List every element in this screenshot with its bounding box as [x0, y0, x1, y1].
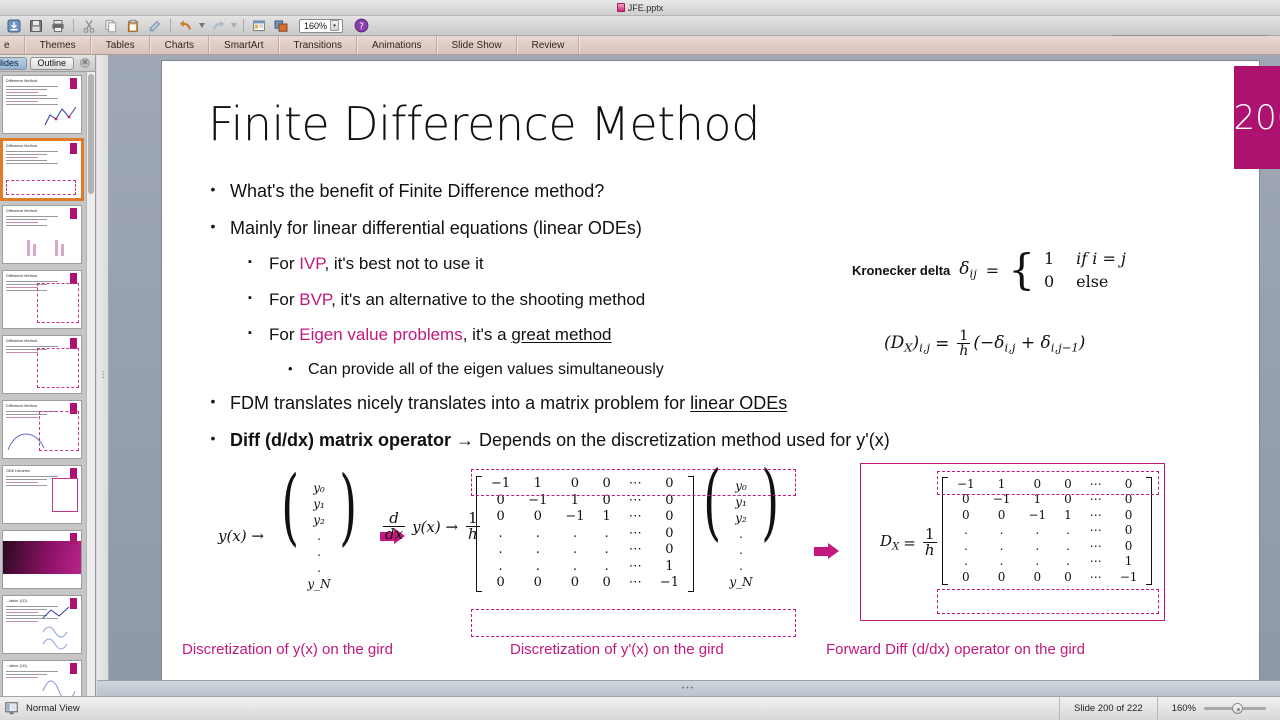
thumbnail-text-lines [6, 151, 58, 166]
thumbnail-artwork [44, 103, 78, 129]
cut-icon[interactable] [79, 17, 99, 34]
vector-entry: y₁ [313, 497, 325, 511]
matrix-row: 0−110⋯0 [482, 493, 688, 510]
bullet-text: FDM translates nicely translates into a … [230, 393, 787, 414]
underline-great-method: great method [511, 325, 611, 344]
highlight-last-row-block2 [471, 609, 796, 637]
bracket-right [1146, 477, 1152, 585]
caption-block3: Forward Diff (d/dx) operator on the gird [826, 641, 1085, 658]
ribbon-tab-animations[interactable]: Animations [357, 36, 436, 54]
matrix-row: ....⋯1 [482, 559, 688, 576]
block2-fn: y(x) → [412, 518, 458, 536]
splitter-grip-icon: ••• [100, 371, 106, 379]
slide-thumbnail[interactable]: ODE Libraries [2, 465, 82, 524]
thumbnail-title: Difference Method [6, 274, 37, 278]
block3-equals: = [903, 534, 916, 552]
pane-splitter[interactable]: ••• [97, 55, 109, 696]
slide-thumbnail[interactable]: Difference Method [2, 400, 82, 459]
slides-pane-scrollbar[interactable] [86, 72, 95, 696]
thumbnail-title: Difference Method [6, 144, 37, 148]
thumbnail-artwork [25, 236, 81, 260]
matrix-row: ....⋯1 [948, 554, 1146, 569]
paste-icon[interactable] [123, 17, 143, 34]
block2-vector: ( y₀ y₁ y₂ . . . y_N ) [696, 476, 786, 592]
quick-access-toolbar[interactable]: 160% ▾ ? 🔍 Search in Presentation [0, 16, 1280, 36]
matrix-diagram: y(x) → ( y₀ y₁ y₂ . . . y_N ) [180, 461, 1240, 671]
caption-block1: Discretization of y(x) on the gird [182, 641, 393, 658]
right-paren: ) [761, 476, 779, 592]
bullet-item: ▪ For Eigen value problems, it's a great… [248, 325, 968, 345]
bullet-item: ▪ For BVP, it's an alternative to the sh… [248, 290, 968, 310]
thumbnail-title: ODE Libraries [6, 469, 30, 473]
thumbnail-badge [70, 78, 77, 89]
vector-entries: y₀ y₁ y₂ . . . y_N [728, 476, 753, 592]
toolbar-separator-1 [70, 17, 77, 34]
vector-entries: y₀ y₁ y₂ . . . y_N [306, 481, 331, 591]
zoom-slider[interactable] [1204, 707, 1266, 710]
dx-frac-numerator: 1 [957, 329, 970, 343]
matrix-row: ....⋯0 [948, 539, 1146, 554]
equals-sign: = [986, 261, 999, 280]
ribbon-tab-bar[interactable]: e Themes Tables Charts SmartArt Transiti… [0, 36, 1280, 55]
case-false-condition: else [1076, 272, 1108, 291]
format-painter-icon[interactable] [145, 17, 165, 34]
slide-thumbnail[interactable]: Difference Method [2, 205, 82, 264]
slide-thumbnail[interactable]: ...lation (1D) [2, 595, 82, 654]
print-icon[interactable] [48, 17, 68, 34]
ribbon-tab-home[interactable]: e [0, 36, 25, 54]
view-label: Normal View [22, 703, 80, 714]
thumbnail-dark-band [3, 541, 81, 574]
thumbnail-artwork [37, 283, 79, 323]
matrix-row: ....⋯0 [482, 526, 688, 543]
case-row-false: 0 else [1044, 272, 1126, 291]
zoom-value: 160% [304, 21, 327, 31]
ribbon-tab-slide-show[interactable]: Slide Show [437, 36, 517, 54]
slide-canvas: ••• Finite Difference Method 200 • What'… [97, 55, 1280, 696]
ribbon-tab-charts[interactable]: Charts [150, 36, 209, 54]
vector-entry: y₀ [313, 481, 325, 495]
case-true-condition: if i = j [1076, 249, 1126, 268]
ribbon-tab-tables[interactable]: Tables [91, 36, 150, 54]
bullet-text: What's the benefit of Finite Difference … [230, 181, 604, 202]
matrix-brackets: −1100⋯0 0−110⋯0 00−11⋯0 ....⋯0 ....⋯0 ..… [476, 476, 694, 592]
thumbnail-badge [70, 208, 77, 219]
dx-equals: = [935, 334, 949, 354]
left-paren: ( [703, 476, 721, 592]
media-browser-icon[interactable] [271, 17, 291, 34]
undo-dropdown-arrow-icon[interactable] [198, 17, 206, 34]
case-true-value: 1 [1044, 249, 1054, 268]
ribbon-tab-smartart[interactable]: SmartArt [209, 36, 278, 54]
matrix-brackets: −1100⋯0 0−110⋯0 00−11⋯0 ....⋯0 ....⋯0 ..… [942, 477, 1152, 585]
h-num: 1 [923, 527, 937, 542]
vector-entry: y_N [729, 575, 752, 589]
slide-thumbnail[interactable]: ...lation (1D) [2, 660, 82, 696]
matrix-row: −1100⋯0 [948, 477, 1146, 492]
normal-view-icon[interactable] [0, 702, 22, 715]
matrix-row: 0−110⋯0 [948, 492, 1146, 507]
dx-lhs: (DX)i,j [884, 333, 930, 355]
matrix-row: ....⋯0 [948, 523, 1146, 538]
redo-dropdown-arrow-icon[interactable] [230, 17, 238, 34]
block3-lhs: DX = 1 h [880, 527, 940, 558]
slide-thumbnail-list[interactable]: Difference Method Difference Method Diff… [0, 72, 95, 696]
block3-matrix: −1100⋯0 0−110⋯0 00−11⋯0 ....⋯0 ....⋯0 ..… [948, 477, 1146, 585]
dx-fraction: 1 h [957, 329, 970, 358]
strip-grip-icon: ••• [682, 685, 695, 692]
h-den: h [923, 542, 937, 558]
bullet-marker: • [208, 218, 218, 239]
status-right-group: Slide 200 of 222 160% [1059, 697, 1280, 720]
thumbnail-title: ...lation (1D) [6, 664, 27, 668]
zoom-combo[interactable]: 160% ▾ [299, 19, 343, 33]
dx-label: DX [880, 532, 899, 552]
zoom-dropdown-arrow-icon[interactable]: ▾ [330, 20, 339, 31]
vector-entry: . [739, 543, 743, 557]
bullet-item: • Can provide all of the eigen values si… [288, 361, 968, 379]
thumbnail-text-lines [6, 476, 58, 488]
tab-outline[interactable]: Outline [30, 57, 75, 70]
thumbnail-artwork [41, 669, 79, 696]
cases-brace: { [1008, 251, 1035, 290]
caption-block2: Discretization of y'(x) on the gird [510, 641, 724, 658]
matrix-row: 0000⋯−1 [948, 570, 1146, 585]
slide-counter: Slide 200 of 222 [1059, 697, 1157, 720]
zoom-group[interactable]: 160% [1157, 697, 1280, 720]
canvas-bottom-strip[interactable]: ••• [97, 680, 1280, 696]
bullet-marker: • [208, 430, 218, 451]
bullet-item: • FDM translates nicely translates into … [208, 393, 968, 414]
bullet-list: • What's the benefit of Finite Differenc… [208, 181, 968, 466]
toolbar-separator-3 [240, 17, 247, 34]
block2-matrix-group: −1100⋯0 0−110⋯0 00−11⋯0 ....⋯0 ....⋯0 ..… [476, 476, 786, 592]
vector-entry: . [317, 545, 321, 559]
dx-frac-denominator: h [957, 343, 970, 358]
bullet-item: • What's the benefit of Finite Differenc… [208, 181, 968, 202]
thumbnail-text-lines [6, 216, 58, 228]
bracket-right [688, 476, 694, 592]
thumbnail-title: Difference Method [6, 79, 37, 83]
thumbnail-badge [70, 533, 77, 544]
bullet-marker: ▪ [248, 254, 257, 274]
status-bar: Normal View Slide 200 of 222 160% [0, 696, 1280, 720]
matrix-row: −1100⋯0 [482, 476, 688, 493]
ribbon-tab-review[interactable]: Review [517, 36, 580, 54]
bullet-text: Diff (d/dx) matrix operator → Depends on… [230, 430, 890, 451]
title-bar: JFE.pptx [0, 0, 1280, 16]
bullet-text: For Eigen value problems, it's a great m… [269, 325, 612, 345]
kronecker-delta-formula: Kronecker delta δij = { 1 if i = j 0 els… [852, 249, 1126, 291]
matrix-row: 00−11⋯0 [948, 508, 1146, 523]
toolbar-separator-2 [167, 17, 174, 34]
ddx-num: d [387, 511, 401, 526]
bullet-text: For IVP, it's best not to use it [269, 254, 484, 274]
block1-vector: ( y₀ y₁ y₂ . . . y_N ) [274, 481, 364, 591]
bullet-text: Mainly for linear differential equations… [230, 218, 642, 239]
bullet-text: Can provide all of the eigen values simu… [308, 361, 664, 379]
pptx-file-icon [617, 3, 625, 12]
dx-entry-formula: (DX)i,j = 1 h (−δi,j + δi,j−1) [884, 329, 1085, 358]
bold-diff-operator: Diff (d/dx) matrix operator [230, 430, 451, 450]
powerpoint-window: JFE.pptx [0, 0, 1280, 720]
underline-linear-odes: linear ODEs [690, 393, 787, 413]
slides-pane-tabs[interactable]: lides Outline ✕ [0, 55, 95, 72]
ribbon-filler [579, 36, 1280, 54]
thumbnail-artwork-box [39, 411, 79, 451]
close-icon[interactable]: ✕ [80, 58, 90, 68]
thumbnail-title: Difference Method [6, 404, 37, 408]
bullet-marker: • [208, 181, 218, 202]
vector-entry: y₂ [735, 511, 747, 525]
slide-thumbnail[interactable]: Difference Method [2, 75, 82, 134]
scrollbar-thumb[interactable] [88, 74, 94, 194]
dx-rhs: (−δi,j + δi,j−1) [973, 333, 1085, 355]
matrix-row: ....⋯0 [482, 542, 688, 559]
right-paren: ) [339, 481, 357, 591]
block3-matrix-group: −1100⋯0 0−110⋯0 00−11⋯0 ....⋯0 ....⋯0 ..… [942, 477, 1152, 590]
case-false-value: 0 [1044, 272, 1054, 291]
kronecker-symbol: δij [959, 259, 977, 281]
diagram-block-discretization-y: y(x) → ( y₀ y₁ y₂ . . . y_N ) [218, 481, 406, 591]
arrow-right-icon-2 [814, 543, 840, 559]
vector-entry: y_N [307, 577, 330, 591]
block1-lhs: y(x) → [218, 527, 264, 545]
bullet-text: For BVP, it's an alternative to the shoo… [269, 290, 645, 310]
thumbnail-badge [70, 143, 77, 154]
thumbnail-title: Difference Method [6, 209, 37, 213]
cases-block: 1 if i = j 0 else [1044, 249, 1126, 291]
block2-derivative-lhs: d dx y(x) → 1 h [380, 511, 483, 542]
thumbnail-artwork [41, 604, 79, 650]
ddx-fraction: d dx [383, 511, 405, 542]
highlight-eigen: Eigen value problems [299, 325, 462, 344]
slide-surface[interactable]: Finite Difference Method 200 • What's th… [161, 60, 1260, 683]
kronecker-delta-label: Kronecker delta [852, 263, 950, 278]
redo-icon[interactable] [208, 17, 228, 34]
thumbnail-artwork [37, 348, 79, 388]
vector-entry: y₂ [313, 513, 325, 527]
bullet-item: • Diff (d/dx) matrix operator → Depends … [208, 430, 968, 451]
thumbnail-title: Difference Method [6, 339, 37, 343]
document-title-group: JFE.pptx [617, 3, 664, 13]
vector-entry: y₀ [735, 479, 747, 493]
vector-entry: . [317, 529, 321, 543]
case-row-true: 1 if i = j [1044, 249, 1126, 268]
zoom-slider-thumb[interactable] [1232, 703, 1243, 714]
slide-thumbnail[interactable]: Difference Method [2, 335, 82, 394]
vector-entry: . [739, 559, 743, 573]
tab-slides[interactable]: lides [0, 57, 27, 70]
bullet-marker: • [208, 393, 218, 414]
vector-entry: . [739, 527, 743, 541]
vector-entry: . [317, 561, 321, 575]
bullet-item: • Mainly for linear differential equatio… [208, 218, 968, 239]
left-paren: ( [281, 481, 299, 591]
thumbnail-artwork [6, 180, 76, 195]
matrix-row: 00−11⋯0 [482, 509, 688, 526]
bullet-marker: ▪ [248, 325, 257, 345]
svg-text:?: ? [359, 22, 364, 32]
ribbon-tab-themes[interactable]: Themes [25, 36, 91, 54]
open-icon[interactable] [4, 17, 24, 34]
new-slide-icon[interactable] [249, 17, 269, 34]
page-title: Finite Difference Method [208, 97, 760, 151]
highlight-bvp: BVP [299, 290, 331, 309]
ribbon-tab-transitions[interactable]: Transitions [279, 36, 358, 54]
save-icon[interactable] [26, 17, 46, 34]
document-title: JFE.pptx [628, 3, 664, 13]
vector-entry: y₁ [735, 495, 747, 509]
bullet-marker: ▪ [248, 290, 257, 310]
slide-thumbnail[interactable]: Difference Method [2, 270, 82, 329]
block2-matrix: −1100⋯0 0−110⋯0 00−11⋯0 ....⋯0 ....⋯0 ..… [482, 476, 688, 592]
help-icon[interactable]: ? [351, 17, 371, 34]
slide-thumbnail[interactable] [2, 530, 82, 589]
slide-number-badge: 200 [1234, 66, 1280, 169]
zoom-label: 160% [1172, 703, 1196, 714]
undo-icon[interactable] [176, 17, 196, 34]
thumbnail-artwork [52, 478, 78, 512]
matrix-row: 0000⋯−1 [482, 575, 688, 592]
ddx-den: dx [383, 526, 405, 542]
bullet-marker: • [288, 361, 296, 379]
copy-icon[interactable] [101, 17, 121, 34]
thumbnail-title: ...lation (1D) [6, 599, 27, 603]
block3-h-fraction: 1 h [923, 527, 937, 558]
slide-thumbnail-selected[interactable]: Difference Method [2, 140, 82, 199]
slides-pane: lides Outline ✕ Difference Method Differ… [0, 55, 96, 696]
highlight-ivp: IVP [299, 254, 324, 273]
